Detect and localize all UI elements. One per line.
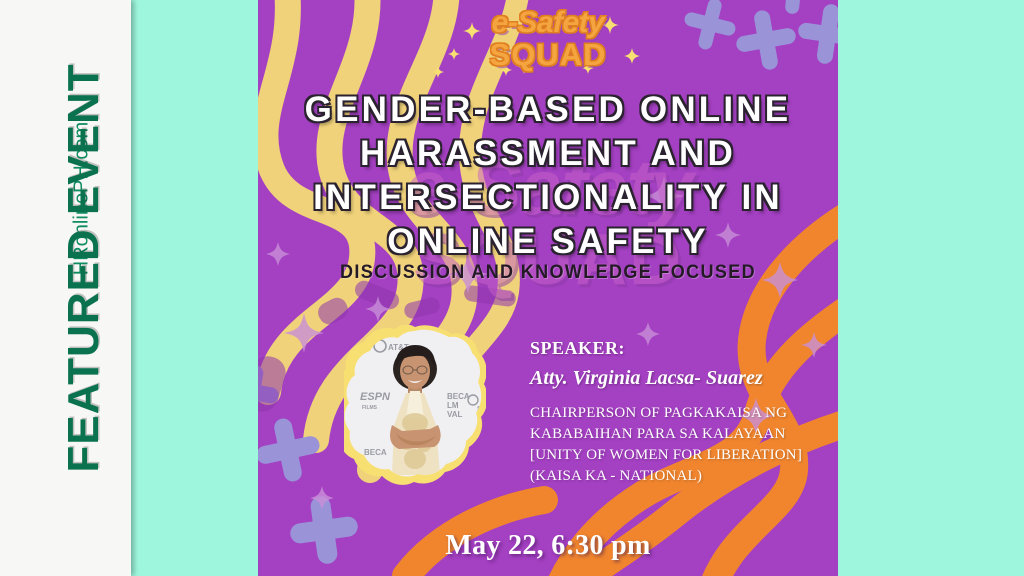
speaker-title-line-3: [UNITY OF WOMEN FOR LIBERATION]: [530, 445, 830, 466]
speaker-photo: AT&T ESPN FILMS BECA LM VAL BECA S: [344, 325, 486, 493]
svg-text:VAL: VAL: [447, 410, 463, 419]
logo-line-2: SQUAD: [258, 37, 838, 73]
svg-text:BECA: BECA: [447, 392, 470, 401]
photo-scallop-frame: AT&T ESPN FILMS BECA LM VAL BECA S: [344, 325, 486, 493]
svg-text:BECA: BECA: [364, 448, 387, 457]
title-line-3: INTERSECTIONALITY IN: [258, 176, 838, 220]
speaker-name: Atty. Virginia Lacsa- Suarez: [530, 367, 830, 390]
svg-text:ESPN: ESPN: [360, 391, 391, 403]
speaker-title: CHAIRPERSON OF PAGKAKAISA NG KABABAIHAN …: [530, 403, 830, 487]
poster-subtitle: DISCUSSION AND KNOWLEDGE FOCUSED: [273, 262, 824, 284]
featured-event-label: FEATURED EVENT: [59, 58, 109, 478]
esafety-squad-logo: e-Safety SQUAD: [258, 6, 838, 73]
svg-text:FILMS: FILMS: [362, 405, 378, 411]
speaker-details: SPEAKER: Atty. Virginia Lacsa- Suarez CH…: [530, 338, 830, 487]
svg-text:LM: LM: [447, 401, 459, 410]
speaker-label: SPEAKER:: [530, 338, 830, 359]
title-line-1: GENDER-BASED ONLINE: [258, 88, 838, 132]
left-sidebar-panel: HRonlinePH.com FEATURED EVENT: [0, 0, 131, 576]
speaker-title-line-2: KABABAIHAN PARA SA KALAYAAN: [530, 424, 830, 445]
title-line-4: ONLINE SAFETY: [258, 220, 838, 264]
logo-line-1: e-Safety: [258, 6, 838, 40]
title-line-2: HARASSMENT AND: [258, 132, 838, 176]
event-date: May 22, 6:30 pm: [258, 530, 838, 562]
event-poster: e-Safety SQUAD e-Safety SQUAD GENDER-BAS…: [258, 0, 838, 576]
speaker-title-line-4: (KAISA KA - NATIONAL): [530, 466, 830, 487]
speaker-title-line-1: CHAIRPERSON OF PAGKAKAISA NG: [530, 403, 830, 424]
poster-title: GENDER-BASED ONLINE HARASSMENT AND INTER…: [258, 88, 838, 264]
